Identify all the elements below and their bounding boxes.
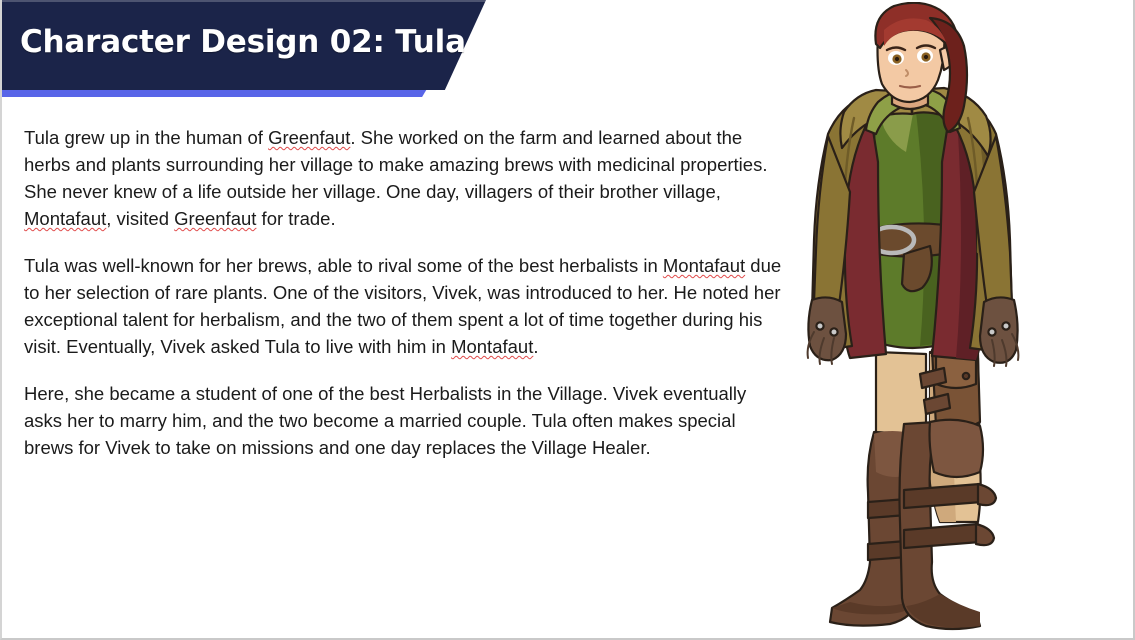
pouch-button (963, 373, 969, 379)
character-illustration-tula (780, 2, 1080, 638)
body-copy: Tula grew up in the human of Greenfaut. … (24, 124, 784, 461)
paragraph-2: Tula was well-known for her brews, able … (24, 252, 784, 360)
glove-left-stud-1 (816, 322, 823, 329)
slide: Character Design 02: Tula Tula grew up i… (0, 0, 1135, 640)
glove-right (980, 297, 1018, 362)
boot-right-buckle-2 (976, 524, 994, 545)
spellcheck-error-word: Montafaut (24, 208, 106, 229)
pupil-right (924, 55, 928, 59)
spellcheck-error-word: Greenfaut (174, 208, 256, 229)
spellcheck-error-word: Montafaut (663, 255, 745, 276)
paragraph-1: Tula grew up in the human of Greenfaut. … (24, 124, 784, 232)
glove-right-stud-1 (1002, 322, 1009, 329)
paragraph-3: Here, she became a student of one of the… (24, 380, 784, 461)
page-title: Character Design 02: Tula (20, 20, 466, 64)
glove-right-stud-2 (988, 328, 995, 335)
knee-guard-right (930, 420, 984, 477)
boot-right-buckle-1 (978, 484, 996, 505)
spellcheck-error-word: Greenfaut (268, 127, 350, 148)
glove-left-stud-2 (830, 328, 837, 335)
pupil-left (895, 57, 899, 61)
spellcheck-error-word: Montafaut (451, 336, 533, 357)
glove-left (808, 297, 846, 360)
title-banner: Character Design 02: Tula (2, 0, 502, 100)
